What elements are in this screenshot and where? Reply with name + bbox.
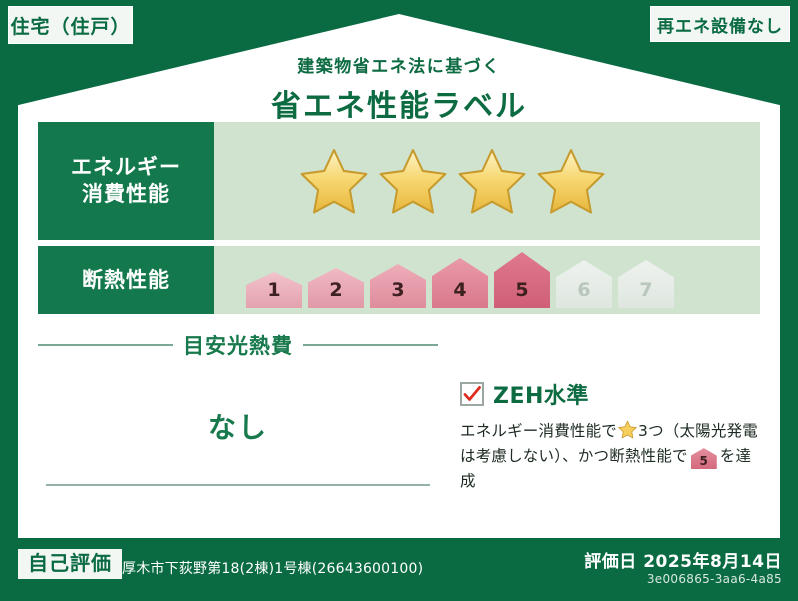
insulation-performance-heading: 断熱性能	[38, 246, 214, 314]
property-address: 厚木市下荻野第18(2棟)1号棟(26643600100)	[122, 558, 423, 578]
insulation-level-number: 7	[639, 281, 652, 308]
insulation-level-4: 4	[432, 258, 488, 308]
label-title-block: 建築物省エネ法に基づく 省エネ性能ラベル	[0, 52, 798, 125]
utility-cost-heading-text: 目安光熱費	[173, 330, 303, 360]
utility-cost-value: なし	[38, 406, 438, 446]
insulation-level-6: 6	[556, 260, 612, 308]
title-main: 省エネ性能ラベル	[0, 81, 798, 125]
energy-performance-label: 住宅（住戸） 再エネ設備なし 建築物省エネ法に基づく 省エネ性能ラベル エネルギ…	[0, 0, 798, 601]
title-subtitle: 建築物省エネ法に基づく	[0, 52, 798, 77]
zeh-title-row: ZEH水準	[460, 378, 760, 410]
evaluation-date: 評価日 2025年8月14日	[584, 547, 782, 572]
evaluation-id: 3e006865-3aa6-4a85	[647, 572, 782, 586]
star-icon	[535, 146, 607, 216]
insulation-level-number: 6	[577, 281, 590, 308]
insulation-level-7: 7	[618, 260, 674, 308]
label-content: エネルギー 消費性能 断熱性能 1234567 目安光熱費 なし	[38, 122, 760, 516]
check-icon	[462, 384, 482, 404]
utility-cost-panel: なし	[38, 364, 438, 516]
lower-section: なし ZEH水準 エネルギー消費性能で3つ（太陽光発電は考慮しない）、かつ断熱性…	[38, 364, 760, 516]
star-icon	[456, 146, 528, 216]
utility-cost-heading: 目安光熱費	[38, 330, 438, 360]
insulation-level-number: 1	[267, 281, 280, 308]
inline-insulation-badge: 5	[691, 448, 717, 469]
heading-rule-left	[38, 344, 173, 346]
star-icon	[618, 420, 637, 439]
energy-heading-line2: 消費性能	[82, 182, 170, 206]
insulation-level-number: 4	[453, 281, 466, 308]
energy-star-rating	[214, 122, 760, 240]
energy-heading-line1: エネルギー	[71, 155, 181, 179]
energy-performance-row: エネルギー 消費性能	[38, 122, 760, 240]
insulation-level-2: 2	[308, 268, 364, 308]
insulation-level-5: 5	[494, 252, 550, 308]
renewable-energy-tag: 再エネ設備なし	[650, 6, 790, 42]
label-footer: 自己評価 厚木市下荻野第18(2棟)1号棟(26643600100) 評価日 2…	[0, 539, 798, 601]
insulation-level-number: 5	[515, 281, 528, 308]
zeh-title: ZEH水準	[493, 378, 589, 410]
zeh-checkbox[interactable]	[460, 382, 484, 406]
star-icon	[377, 146, 449, 216]
heading-rule-right	[303, 344, 438, 346]
zeh-desc-part2: は考慮しない）、かつ断熱性能で	[460, 447, 688, 465]
insulation-level-scale: 1234567	[214, 246, 760, 314]
insulation-performance-row: 断熱性能 1234567	[38, 246, 760, 314]
zeh-desc-part1: エネルギー消費性能で	[460, 422, 617, 440]
energy-performance-heading: エネルギー 消費性能	[38, 122, 214, 240]
zeh-desc-stars: 3つ（太陽光発電	[638, 422, 758, 440]
insulation-level-1: 1	[246, 272, 302, 308]
utility-cost-rule	[46, 484, 430, 486]
zeh-panel: ZEH水準 エネルギー消費性能で3つ（太陽光発電は考慮しない）、かつ断熱性能で5…	[438, 364, 760, 516]
insulation-level-number: 2	[329, 281, 342, 308]
insulation-level-3: 3	[370, 264, 426, 308]
star-icon	[298, 146, 370, 216]
insulation-level-number: 3	[391, 281, 404, 308]
zeh-description: エネルギー消費性能で3つ（太陽光発電は考慮しない）、かつ断熱性能で5を達成	[460, 419, 760, 494]
inline-badge-number: 5	[691, 448, 717, 474]
building-type-tag: 住宅（住戸）	[8, 6, 133, 44]
self-evaluation-badge: 自己評価	[18, 549, 122, 579]
